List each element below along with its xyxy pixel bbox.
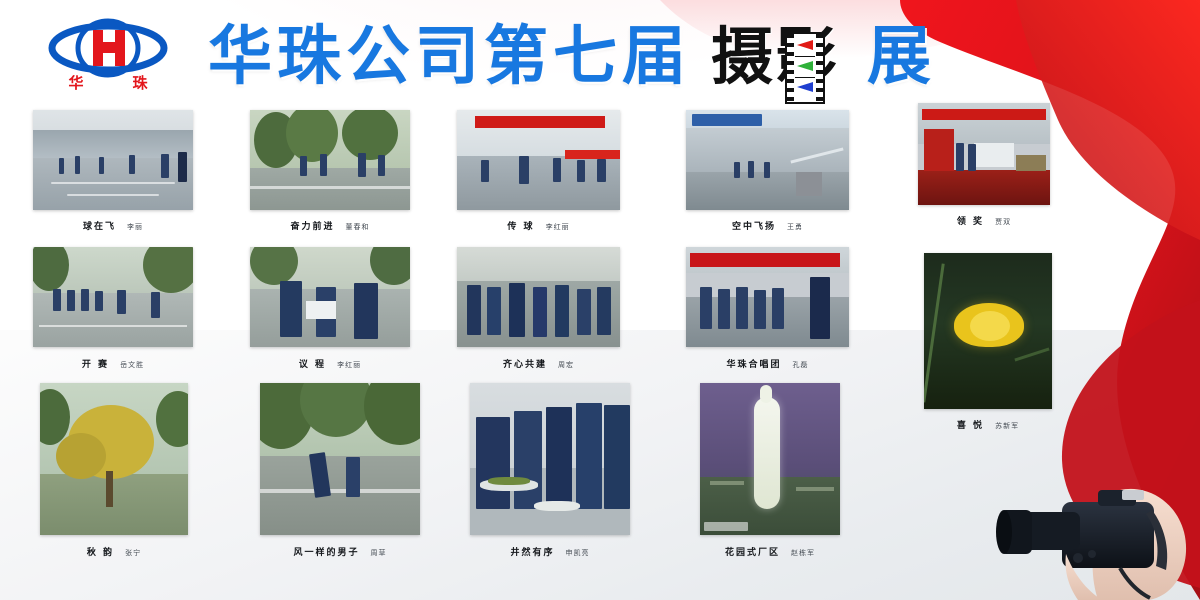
- logo-word-left: 华: [68, 74, 83, 92]
- caption-author: 赵栋军: [791, 549, 815, 557]
- caption-2-3: 花园式厂区 赵栋军: [700, 540, 840, 559]
- photo-2-3[interactable]: [700, 383, 840, 535]
- caption-author: 李红丽: [337, 361, 361, 369]
- caption-title: 议 程: [299, 360, 326, 370]
- caption-title: 开 赛: [82, 360, 109, 370]
- caption-author: 周草: [371, 549, 387, 557]
- caption-1-3: 华珠合唱团 孔磊: [686, 352, 849, 371]
- caption-title: 花园式厂区: [725, 548, 780, 558]
- caption-title: 华珠合唱团: [726, 360, 781, 370]
- caption-title: 空中飞扬: [732, 222, 776, 232]
- caption-0-0: 球在飞 李丽: [33, 214, 193, 233]
- caption-0-1: 奋力前进 董春和: [250, 214, 410, 233]
- photo-2-0[interactable]: [40, 383, 188, 535]
- caption-author: 李红丽: [546, 223, 570, 231]
- logo-word-right: 珠: [132, 74, 148, 92]
- caption-author: 周宏: [558, 361, 574, 369]
- company-logo: 华 珠: [32, 16, 184, 96]
- caption-author: 苏新军: [995, 422, 1019, 430]
- photo-0-2[interactable]: [457, 110, 620, 210]
- caption-2-1: 风一样的男子 周草: [260, 540, 420, 559]
- caption-author: 孔磊: [793, 361, 809, 369]
- photo-1-4[interactable]: [924, 253, 1052, 409]
- photo-0-0[interactable]: [33, 110, 193, 210]
- caption-author: 贾双: [995, 218, 1011, 226]
- caption-0-4: 领 奖 贾双: [918, 209, 1050, 228]
- title-part-one: 华珠公司第七届: [208, 25, 691, 89]
- caption-title: 井然有序: [510, 548, 554, 558]
- caption-1-4: 喜 悦 苏新军: [924, 413, 1052, 432]
- caption-title: 喜 悦: [957, 421, 984, 431]
- photo-2-2[interactable]: [470, 383, 630, 535]
- caption-title: 秋 韵: [87, 548, 114, 558]
- caption-title: 风一样的男子: [293, 548, 359, 558]
- caption-2-2: 井然有序 申凯亮: [470, 540, 630, 559]
- title-part-three: 展: [867, 25, 933, 89]
- caption-title: 领 奖: [957, 217, 984, 227]
- photo-1-1[interactable]: [250, 247, 410, 347]
- caption-title: 齐心共建: [503, 360, 547, 370]
- caption-author: 张宁: [125, 549, 141, 557]
- caption-0-3: 空中飞扬 王勇: [686, 214, 849, 233]
- caption-1-1: 议 程 李红丽: [250, 352, 410, 371]
- color-film-strip-icon: [785, 32, 825, 104]
- caption-author: 申凯亮: [566, 549, 590, 557]
- red-banner: [475, 116, 605, 128]
- photo-0-3[interactable]: [686, 110, 849, 210]
- caption-0-2: 传 球 李红丽: [457, 214, 620, 233]
- caption-author: 王勇: [787, 223, 803, 231]
- photo-2-1[interactable]: [260, 383, 420, 535]
- caption-author: 岳文胜: [120, 361, 144, 369]
- title-part-two: 摄影: [711, 26, 839, 88]
- caption-2-0: 秋 韵 张宁: [40, 540, 188, 559]
- photo-1-3[interactable]: [686, 247, 849, 347]
- caption-title: 奋力前进: [290, 222, 334, 232]
- photo-1-0[interactable]: [33, 247, 193, 347]
- photo-0-1[interactable]: [250, 110, 410, 210]
- caption-author: 李丽: [127, 223, 143, 231]
- hand-holding-dslr-camera-icon: [970, 450, 1200, 600]
- caption-author: 董春和: [346, 223, 370, 231]
- caption-title: 传 球: [507, 222, 534, 232]
- caption-title: 球在飞: [83, 222, 116, 232]
- caption-1-0: 开 赛 岳文胜: [33, 352, 193, 371]
- photo-exhibition-poster: 华 珠 华珠公司第七届 摄影 展: [0, 0, 1200, 600]
- poster-title: 华珠公司第七届 摄影 展: [208, 14, 933, 100]
- photo-0-4[interactable]: [918, 103, 1050, 205]
- photo-1-2[interactable]: [457, 247, 620, 347]
- caption-1-2: 齐心共建 周宏: [457, 352, 620, 371]
